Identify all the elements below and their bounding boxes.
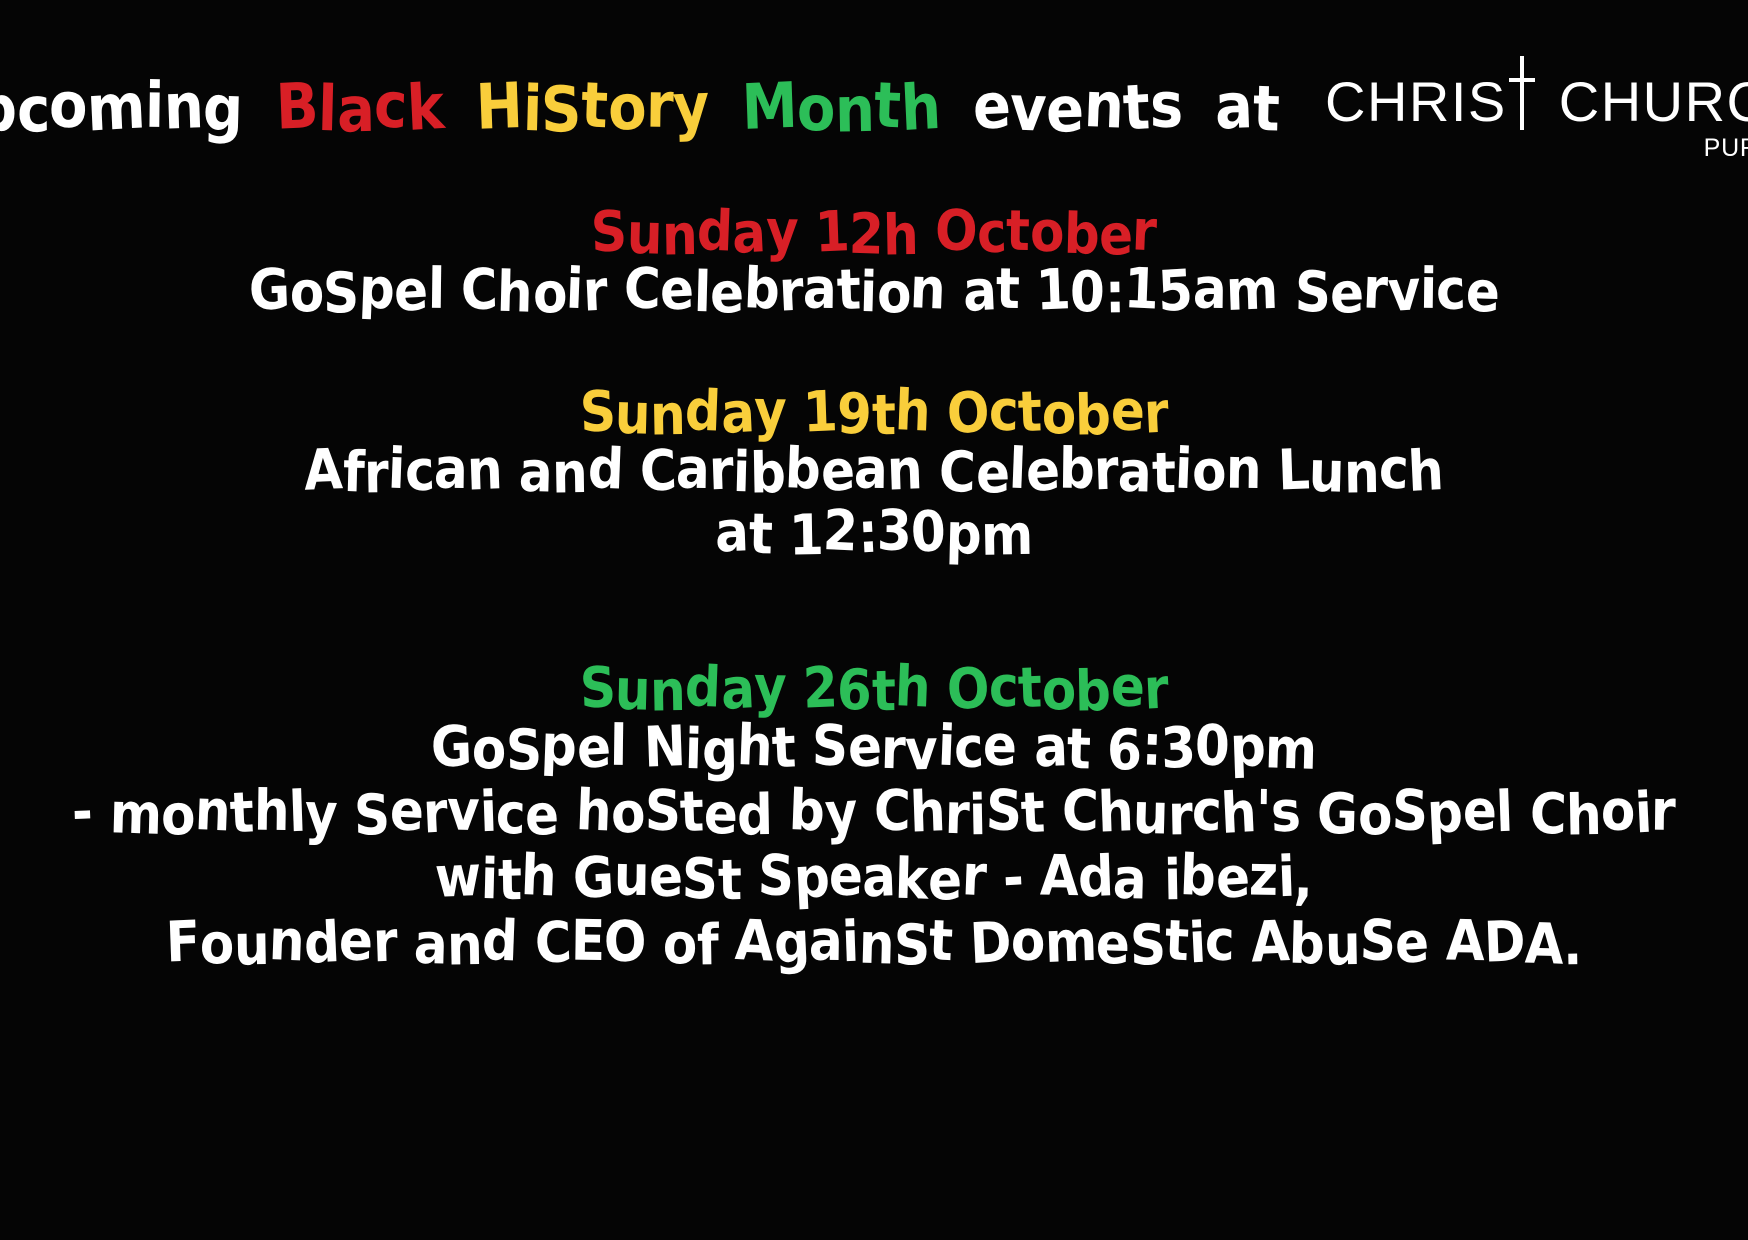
event-1-detail-line-1: GoSpel Choir Celebration at 10:15am Serv…	[0, 263, 1748, 319]
poster-canvas: upcoming Black HiStory Month events at C…	[0, 0, 1748, 1240]
headline-word-events: events	[973, 77, 1182, 140]
cross-icon	[1507, 74, 1537, 130]
event-2-detail-line-2: at 12:30pm	[0, 505, 1748, 561]
event-2-detail-line-1: African and Caribbean Celebration Lunch	[0, 443, 1748, 499]
event-3-detail-line-3: with GueSt Speaker - Ada ibezi,	[0, 849, 1748, 908]
event-3-detail-line-4: Founder and CEO of AgainSt DomeStic AbuS…	[0, 914, 1748, 973]
page-title: upcoming Black HiStory Month events at	[0, 62, 1279, 140]
logo-word-church: CHURCH	[1559, 74, 1748, 130]
christ-church-logo: CHRIS CHURCH PURLEY	[1325, 66, 1748, 163]
event-block-1: Sunday 12h October GoSpel Choir Celebrat…	[0, 208, 1748, 316]
headline-word-history: HiStory	[476, 77, 708, 140]
event-3-date: Sunday 26th October	[0, 661, 1748, 717]
event-3-detail-line-2: - monthly Service hoSted by ChriSt Churc…	[0, 784, 1748, 843]
logo-wordmark: CHRIS CHURCH	[1325, 74, 1748, 130]
event-2-date: Sunday 19th October	[0, 385, 1748, 441]
header-row: upcoming Black HiStory Month events at C…	[0, 66, 1748, 186]
event-1-date: Sunday 12h October	[0, 205, 1748, 261]
headline-word-at: at	[1215, 77, 1279, 140]
headline-word-month: Month	[742, 77, 940, 140]
event-3-detail-line-1: GoSpel Night Service at 6:30pm	[0, 719, 1748, 778]
event-block-2: Sunday 19th October African and Caribbea…	[0, 388, 1748, 558]
logo-word-christ-part: CHRIS	[1325, 74, 1507, 130]
headline-word-upcoming: upcoming	[0, 77, 243, 140]
event-block-3: Sunday 26th October GoSpel Night Service…	[0, 664, 1748, 970]
logo-location-label: PURLEY	[1704, 134, 1748, 163]
headline-word-black: Black	[276, 77, 444, 140]
